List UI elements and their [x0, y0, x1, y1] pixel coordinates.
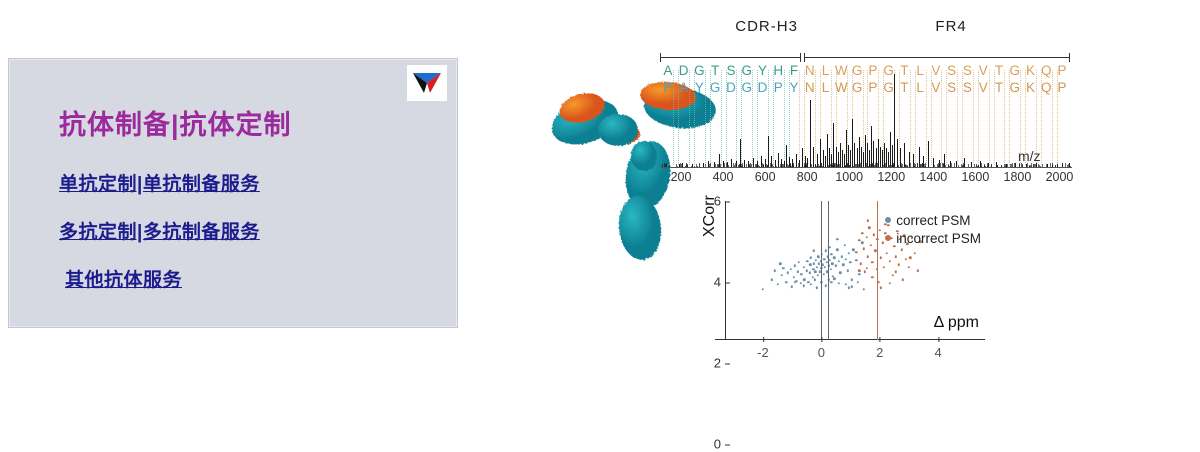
region-label-fr4: FR4	[935, 18, 966, 35]
scatter-point	[829, 259, 831, 261]
scatter-y-tick: 6	[703, 194, 721, 209]
scatter-point	[913, 252, 915, 254]
scatter-point	[806, 260, 808, 262]
scatter-point	[868, 226, 870, 228]
scatter-point	[770, 279, 772, 281]
scatter-point	[838, 282, 840, 284]
scatter-point	[851, 286, 853, 288]
scatter-point	[836, 248, 838, 250]
scatter-point	[874, 250, 876, 252]
scatter-point	[816, 266, 818, 268]
scatter-point	[836, 238, 838, 240]
scatter-point	[900, 248, 902, 250]
scatter-point	[867, 220, 869, 222]
region-label-cdr-h3: CDR-H3	[735, 18, 798, 35]
spectrum-peak	[740, 139, 741, 167]
mz-tick-label: 400	[713, 170, 734, 184]
legend-item[interactable]: correct PSM	[885, 211, 981, 229]
scatter-point	[902, 279, 904, 281]
scatter-point	[880, 287, 882, 289]
scatter-point	[894, 270, 896, 272]
promo-link-other-services[interactable]: 其他抗体服务	[65, 265, 182, 292]
page-title: 抗体制备|抗体定制	[59, 103, 292, 142]
scatter-point	[830, 281, 832, 283]
scatter-point	[833, 277, 835, 279]
scatter-point	[889, 260, 891, 262]
mz-tick-label: 1400	[919, 170, 947, 184]
mz-tick-label: 200	[671, 170, 692, 184]
scatter-x-tick: -2	[757, 345, 769, 360]
scatter-point	[838, 260, 840, 262]
promo-panel: 抗体制备|抗体定制 单抗定制|单抗制备服务 多抗定制|多抗制备服务 其他抗体服务	[8, 58, 458, 328]
scatter-point	[829, 268, 831, 270]
scatter-point	[797, 270, 799, 272]
scatter-x-tick: 0	[818, 345, 825, 360]
scatter-point	[916, 269, 918, 271]
scatter-point	[909, 257, 911, 259]
mz-axis-ticks: 200400600800100012001400160018002000	[650, 168, 1080, 188]
spectrum-peak	[840, 143, 841, 167]
scatter-point	[791, 286, 793, 288]
scatter-point	[861, 242, 863, 244]
scatter-point	[817, 255, 819, 257]
scatter-y-tick: 2	[703, 356, 721, 371]
chevron-logo-icon	[407, 65, 447, 101]
spectrum-peak	[928, 141, 929, 167]
scatter-point	[883, 266, 885, 268]
scatter-point	[871, 261, 873, 263]
scatter-point	[855, 251, 857, 253]
region-labels: CDR-H3 FR4	[660, 18, 1070, 36]
spectrum-peak	[842, 150, 843, 167]
spectrum-peak	[796, 154, 797, 167]
scatter-point	[823, 258, 825, 260]
scatter-reference-line	[877, 201, 878, 340]
scatter-point	[886, 252, 888, 254]
scatter-point	[810, 283, 812, 285]
mass-spectrum-plot	[660, 72, 1070, 167]
scatter-point	[792, 276, 794, 278]
promo-link-polyclonal[interactable]: 多抗定制|多抗制备服务	[59, 217, 260, 244]
mz-tick-label: 1000	[835, 170, 863, 184]
scatter-point	[830, 253, 832, 255]
scatter-point	[810, 257, 812, 259]
scatter-point	[905, 258, 907, 260]
scatter-point	[813, 250, 815, 252]
scatter-point	[842, 264, 844, 266]
scatter-point	[787, 272, 789, 274]
mz-tick-label: 1800	[1004, 170, 1032, 184]
scatter-x-tick: 2	[876, 345, 883, 360]
scatter-point	[865, 267, 867, 269]
scatter-point	[794, 265, 796, 267]
scatter-point	[878, 229, 880, 231]
scatter-point	[871, 276, 873, 278]
scatter-point	[835, 265, 837, 267]
scatter-point	[816, 287, 818, 289]
scatter-point	[797, 261, 799, 263]
legend-label: correct PSM	[896, 213, 970, 228]
scatter-point	[815, 259, 817, 261]
scatter-point	[814, 279, 816, 281]
science-figure: CDR-H3 FR4 ADGTSGYHFNLWGPGTLVSSVTGKQP PA…	[520, 0, 1200, 400]
region-tick	[660, 53, 661, 62]
scatter-point	[808, 272, 810, 274]
mz-axis-label: m/z	[1018, 148, 1041, 164]
scatter-point	[846, 269, 848, 271]
scatter-point	[873, 233, 875, 235]
spectrum-peak	[878, 139, 879, 167]
scatter-point	[867, 255, 869, 257]
scatter-point	[803, 284, 805, 286]
scatter-point	[841, 255, 843, 257]
scatter-point	[782, 267, 784, 269]
scatter-point	[851, 279, 853, 281]
scatter-point	[908, 266, 910, 268]
scatter-point	[862, 288, 864, 290]
mz-tick-label: 1200	[877, 170, 905, 184]
scatter-x-tick: 4	[934, 345, 941, 360]
scatter-point	[880, 257, 882, 259]
scatter-point	[803, 279, 805, 281]
scatter-point	[824, 266, 826, 268]
scatter-point	[892, 274, 894, 276]
scatter-point	[862, 247, 864, 249]
scatter-point	[897, 264, 899, 266]
scatter-point	[773, 269, 775, 271]
scatter-point	[894, 255, 896, 257]
spectrum-peak	[810, 100, 811, 167]
scatter-point	[824, 250, 826, 252]
scatter-point	[809, 264, 811, 266]
spectrum-peak	[827, 134, 828, 167]
scatter-point	[855, 259, 857, 261]
scatter-point	[814, 270, 816, 272]
scatter-point	[865, 236, 867, 238]
scatter-point	[843, 244, 845, 246]
scatter-point	[848, 252, 850, 254]
scatter-point	[785, 281, 787, 283]
region-rule	[804, 57, 1070, 58]
legend-item[interactable]: incorrect PSM	[885, 229, 981, 247]
scatter-point	[800, 273, 802, 275]
region-tick	[804, 53, 805, 62]
mz-tick-label: 800	[797, 170, 818, 184]
scatter-point	[839, 272, 841, 274]
scatter-point	[833, 257, 835, 259]
scatter-point	[848, 287, 850, 289]
spectrum-peak	[897, 139, 898, 167]
scatter-point	[845, 258, 847, 260]
scatter-legend: correct PSMincorrect PSM	[885, 211, 981, 247]
scatter-y-tick: 0	[703, 437, 721, 452]
scatter-point	[858, 273, 860, 275]
scatter-point	[776, 283, 778, 285]
scatter-point	[870, 244, 872, 246]
region-tick	[800, 53, 801, 62]
xcorr-scatter-plot: XCorr Δ ppm correct PSMincorrect PSM 024…	[685, 193, 985, 368]
scatter-point	[861, 232, 863, 234]
region-bracket	[660, 53, 1070, 62]
scatter-point	[817, 274, 819, 276]
promo-link-monoclonal[interactable]: 单抗定制|单抗制备服务	[59, 169, 260, 196]
mz-tick-label: 1600	[961, 170, 989, 184]
region-tick	[1069, 53, 1070, 62]
scatter-point	[781, 274, 783, 276]
scatter-point	[857, 281, 859, 283]
spectrum-peak	[890, 132, 891, 167]
scatter-point	[859, 262, 861, 264]
scatter-point	[813, 262, 815, 264]
legend-bullet-icon	[885, 235, 891, 241]
scatter-point	[845, 283, 847, 285]
scatter-point	[831, 262, 833, 264]
region-rule	[660, 57, 800, 58]
scatter-y-tick: 4	[703, 275, 721, 290]
scatter-reference-line	[821, 201, 822, 340]
scatter-point	[824, 284, 826, 286]
spectrum-peak	[846, 130, 847, 167]
spectrum-peak	[894, 74, 895, 167]
scatter-point	[818, 262, 820, 264]
scatter-point	[858, 269, 860, 271]
scatter-point	[864, 270, 866, 272]
scatter-point	[889, 282, 891, 284]
mz-tick-label: 2000	[1046, 170, 1074, 184]
scatter-point	[822, 273, 824, 275]
scatter-point	[803, 266, 805, 268]
scatter-point	[881, 242, 883, 244]
legend-bullet-icon	[885, 217, 891, 223]
legend-label: incorrect PSM	[896, 231, 981, 246]
scatter-point	[789, 268, 791, 270]
mz-tick-label: 600	[755, 170, 776, 184]
scatter-reference-line	[828, 201, 829, 340]
scatter-point	[849, 261, 851, 263]
scatter-point	[762, 288, 764, 290]
spectrum-peak	[852, 119, 853, 167]
spectrum-peak	[871, 126, 872, 167]
scatter-point	[779, 262, 781, 264]
spectrum-peak	[833, 123, 834, 167]
